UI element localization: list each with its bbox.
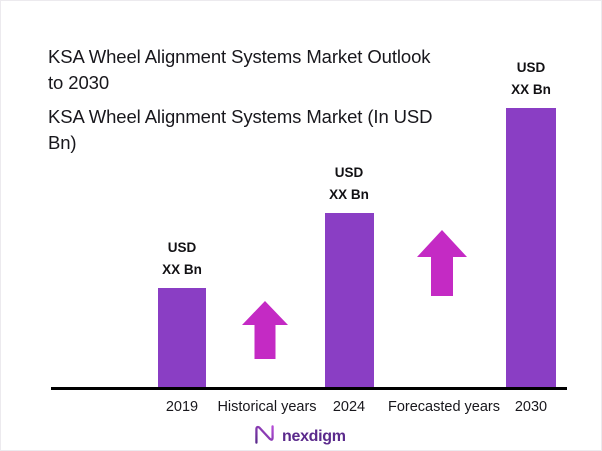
bar-2019 [158, 288, 206, 388]
data-label-2030-line-1: USD [472, 57, 590, 79]
brand-logo-text: nexdigm [282, 428, 346, 446]
data-label-2030-line-2: XX Bn [472, 79, 590, 101]
axis-label-2019: 2019 [142, 397, 222, 417]
data-label-2019-line-1: USD [122, 237, 242, 259]
data-label-2030: USD XX Bn [472, 57, 590, 101]
brand-logo: nexdigm [254, 425, 346, 449]
data-label-2024: USD XX Bn [289, 162, 409, 206]
bar-2024 [325, 213, 374, 388]
up-arrow-forecasted-icon [417, 230, 467, 296]
axis-label-forecasted-years: Forecasted years [384, 397, 504, 417]
axis-label-2024: 2024 [309, 397, 389, 417]
up-arrow-historical-icon [242, 301, 288, 359]
data-label-2019-line-2: XX Bn [122, 259, 242, 281]
axis-label-historical-years: Historical years [214, 397, 320, 417]
plot-area: USD XX Bn USD XX Bn USD XX Bn 2019 Histo… [1, 1, 602, 451]
x-axis-line [51, 387, 567, 390]
nexdigm-wave-icon [254, 425, 275, 449]
data-label-2024-line-1: USD [289, 162, 409, 184]
chart-infographic: KSA Wheel Alignment Systems Market Outlo… [0, 0, 602, 451]
axis-label-2030: 2030 [491, 397, 571, 417]
data-label-2024-line-2: XX Bn [289, 184, 409, 206]
data-label-2019: USD XX Bn [122, 237, 242, 281]
bar-2030 [506, 108, 556, 388]
